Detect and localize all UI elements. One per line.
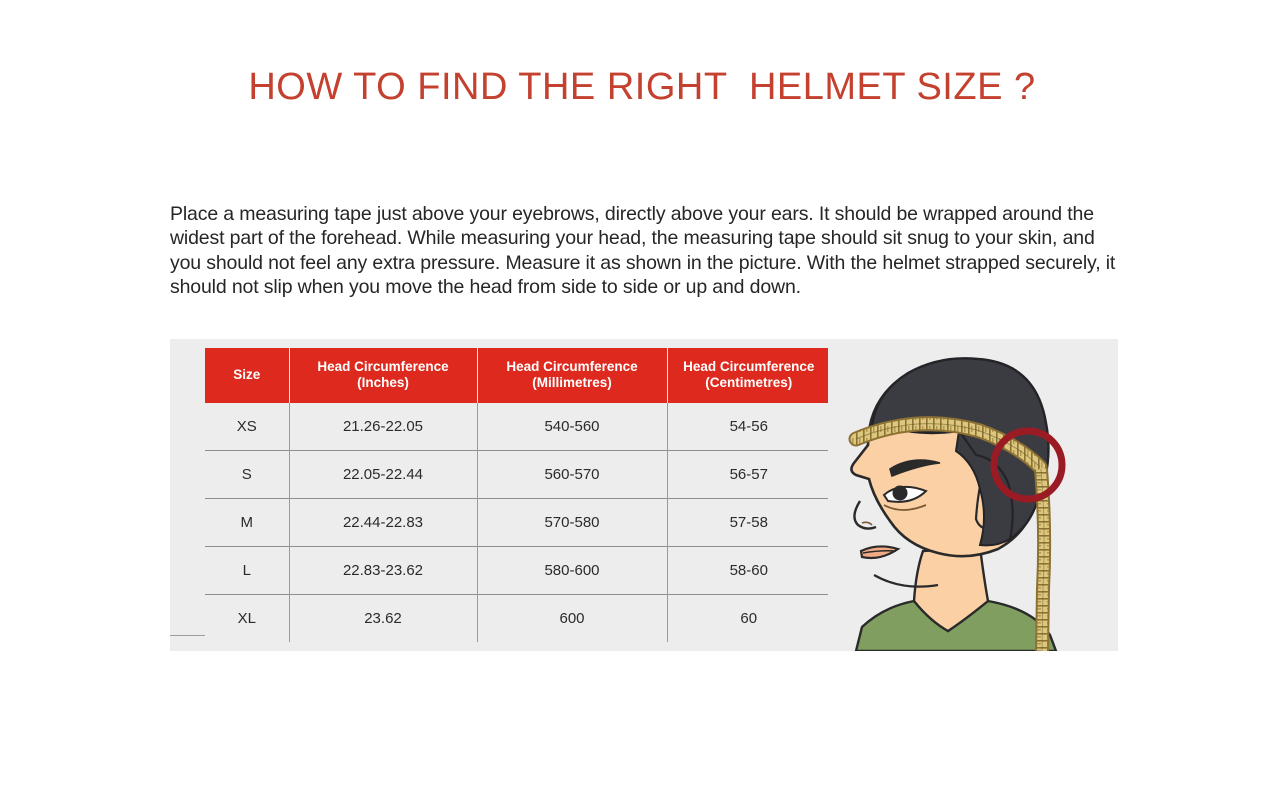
cell-size: S [205, 451, 289, 499]
column-header-centimetres: Head Circumference (Centimetres) [667, 348, 830, 403]
cell-mm: 600 [477, 595, 667, 643]
column-header-inches: Head Circumference (Inches) [289, 348, 477, 403]
table-row: XL 23.62 600 60 [205, 595, 830, 643]
cell-mm: 560-570 [477, 451, 667, 499]
cell-size: M [205, 499, 289, 547]
table-row: M 22.44-22.83 570-580 57-58 [205, 499, 830, 547]
helmet-size-table: Size Head Circumference (Inches) Head Ci… [205, 348, 830, 642]
cell-size: XS [205, 403, 289, 451]
size-chart-panel: Size Head Circumference (Inches) Head Ci… [170, 339, 1118, 651]
cell-mm: 580-600 [477, 547, 667, 595]
cell-cm: 58-60 [667, 547, 830, 595]
table-row: L 22.83-23.62 580-600 58-60 [205, 547, 830, 595]
cell-mm: 540-560 [477, 403, 667, 451]
cell-inches: 22.83-23.62 [289, 547, 477, 595]
page-title: HOW TO FIND THE RIGHT HELMET SIZE ? [0, 66, 1284, 109]
cell-size: L [205, 547, 289, 595]
table-row: S 22.05-22.44 560-570 56-57 [205, 451, 830, 499]
cell-inches: 23.62 [289, 595, 477, 643]
cell-inches: 21.26-22.05 [289, 403, 477, 451]
pupil [893, 486, 908, 501]
cell-cm: 57-58 [667, 499, 830, 547]
instructions-paragraph: Place a measuring tape just above your e… [170, 202, 1122, 300]
cell-inches: 22.44-22.83 [289, 499, 477, 547]
cell-cm: 56-57 [667, 451, 830, 499]
table-header-row: Size Head Circumference (Inches) Head Ci… [205, 348, 830, 403]
cell-cm: 54-56 [667, 403, 830, 451]
column-header-size: Size [205, 348, 289, 403]
cell-mm: 570-580 [477, 499, 667, 547]
cell-cm: 60 [667, 595, 830, 643]
head-profile-diagram [828, 339, 1118, 651]
table-row: XS 21.26-22.05 540-560 54-56 [205, 403, 830, 451]
cell-inches: 22.05-22.44 [289, 451, 477, 499]
cell-size: XL [205, 595, 289, 643]
head-measurement-illustration [828, 339, 1118, 651]
column-header-millimetres: Head Circumference (Millimetres) [477, 348, 667, 403]
